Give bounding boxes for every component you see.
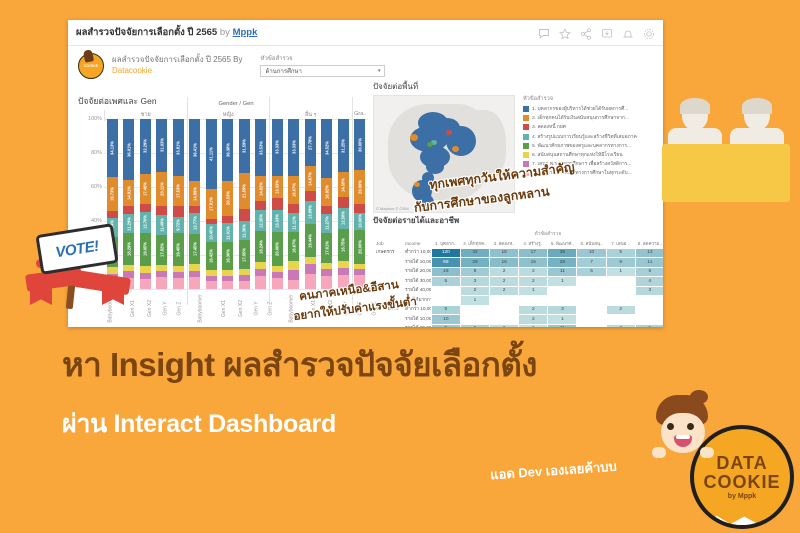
table-cell-value[interactable] (606, 277, 635, 287)
legend-title: หัวข้อสำรวจ (523, 95, 651, 103)
chart-bar-segment[interactable] (173, 206, 184, 216)
table-cell-value[interactable] (577, 286, 606, 296)
chart-bar-segment[interactable]: 18.24% (255, 231, 266, 262)
chart-bar-value-label: 16.42% (209, 249, 214, 263)
table-cell-value[interactable]: 2 (490, 324, 519, 327)
table-cell-value[interactable] (490, 315, 519, 325)
podium-figure-head (682, 100, 708, 130)
map-bubble (427, 142, 433, 147)
table-cell-value[interactable] (431, 296, 460, 306)
chart-bar-segment[interactable]: 31.59% (239, 119, 250, 173)
chevron-down-icon: ▾ (378, 68, 381, 74)
legend-swatch (523, 152, 529, 158)
chart-y-tick: 100% (88, 116, 102, 122)
chart-bar-column[interactable]: 33.81%17.53%9.72%19.45% (170, 119, 187, 289)
table-col-factor[interactable]: 1. บุคลาก.. (431, 239, 460, 249)
table-cell-value[interactable]: 16 (431, 267, 460, 277)
chart-bar-segment[interactable]: 20.11% (156, 172, 167, 206)
chart-bar-segment[interactable]: 13.33% (272, 176, 283, 199)
chart-bar-segment[interactable]: 10.45% (206, 224, 217, 242)
table-cell-value[interactable]: 3 (548, 305, 577, 315)
chart-bar-segment[interactable]: 16.30% (222, 242, 233, 270)
chart-bar-value-label: 30.00% (357, 138, 362, 152)
chart-bar-column[interactable]: 41.11%17.91%10.45%16.42% (203, 119, 220, 289)
chart-x-tick: Gen Z (180, 291, 194, 319)
chart-bar-value-label: 19.73% (110, 187, 115, 201)
share-icon[interactable] (580, 27, 592, 39)
star-icon[interactable] (559, 27, 571, 39)
dashboard-subtitle: ผลสำรวจปัจจัยการเลือกตั้ง ปี 2565 By Dat… (112, 55, 242, 77)
chart-bar-value-label: 16.67% (291, 240, 296, 254)
table-cell-value[interactable]: 9 (606, 258, 635, 268)
chart-bar-segment[interactable]: 33.33% (272, 119, 283, 176)
table-body: เกษตรกรต่ำกว่า 10,00..1203215173610513รา… (373, 248, 663, 327)
chart-bar-value-label: 36.41% (192, 143, 197, 157)
table-super-header-row: หัวข้อสำรวจ (373, 229, 663, 239)
chart-bar-segment[interactable]: 17.46% (140, 174, 151, 204)
chart-bar-segment[interactable] (222, 216, 233, 223)
chart-bar-segment[interactable] (321, 206, 332, 213)
table-cell-value[interactable]: 9 (431, 324, 460, 327)
chart-bar-value-label: 36.38% (225, 143, 230, 157)
table-cell-value[interactable]: 6 (635, 267, 663, 277)
chart-bar-segment[interactable]: 17.45% (189, 234, 200, 264)
chart-bar-value-label: 31.25% (341, 139, 346, 153)
table-header-row: Job Income 1. บุคลาก..2. เด็กทุกค..3. ลด… (373, 239, 663, 249)
chart-bar-column[interactable]: 31.59%21.59%11.36%17.05% (236, 119, 253, 289)
chart-bar-segment[interactable]: 36.38% (222, 119, 233, 181)
dashboard-title: ผลสำรวจปัจจัยการเลือกตั้ง ปี 2565 by Mpp… (76, 25, 257, 40)
map-bubble (452, 146, 459, 152)
table-row[interactable]: รายได้ 10,00..1021 (373, 315, 663, 325)
chart-bar-value-label: 13.33% (275, 214, 280, 228)
table-col-factor[interactable]: 4. สร้างรู.. (519, 239, 548, 249)
table-cell-value[interactable]: 2 (519, 315, 548, 325)
chart-bar-segment[interactable] (288, 270, 299, 279)
podium-document (670, 158, 686, 178)
poster-credit: แอด Dev เองเลยค้าบบ (489, 456, 617, 486)
chart-bar-segment[interactable]: 12.77% (189, 213, 200, 235)
table-cell-value[interactable]: 3 (460, 277, 489, 287)
chart-bar-segment[interactable]: 14.89% (189, 181, 200, 206)
chart-bar-segment[interactable] (255, 269, 266, 276)
chart-bar-segment[interactable]: 36.01% (123, 119, 134, 180)
legend-item[interactable]: 6. สนับสนุนสถานศึกษาทุกแห่งให้มีโรงเรียน (523, 151, 651, 159)
table-cell-value[interactable]: 15 (519, 258, 548, 268)
survey-topic-filter: หัวข้อสำรวจ ด้านการศึกษา ▾ (260, 51, 385, 77)
chart-bar-value-label: 20.00% (275, 242, 280, 256)
table-cell-value[interactable] (606, 315, 635, 325)
table-cell-value[interactable] (577, 315, 606, 325)
chart-bar-segment[interactable] (354, 269, 365, 276)
table-cell-value[interactable]: 36 (548, 248, 577, 258)
chart-bar-value-label: 32.29% (143, 139, 148, 153)
subscribe-icon[interactable] (622, 27, 634, 39)
chart-bar-value-label: 11.01% (225, 226, 230, 240)
chart-bar-value-label: 10.00% (357, 214, 362, 228)
chart-bar-segment[interactable] (321, 269, 332, 276)
chart-bar-value-label: 14.67% (308, 172, 313, 186)
chart-bar-value-label: 17.45% (192, 242, 197, 256)
chart-bar-segment[interactable]: 13.33% (272, 210, 283, 233)
dashboard-author-link[interactable]: Mppk (233, 27, 258, 38)
table-row[interactable]: รายได้ 20,00..95211125 (373, 324, 663, 327)
chart-bar-segment[interactable]: 12.50% (338, 208, 349, 229)
chart-bar-segment[interactable]: 32.29% (140, 119, 151, 174)
chart-bar-segment[interactable] (338, 261, 349, 268)
table-cell-value[interactable]: 28 (548, 258, 577, 268)
chart-y-tick: 60% (91, 184, 102, 190)
chart-bar-column[interactable]: 33.53%14.82%12.35%18.24% (253, 119, 270, 289)
chart-bar-column[interactable]: 36.38%20.53%11.01%16.30% (220, 119, 237, 289)
chart-bar-segment[interactable] (156, 277, 167, 289)
chart-bar-segment[interactable]: 31.03% (156, 119, 167, 172)
mascot-eye-left (667, 423, 674, 430)
chart-bar-column[interactable]: 36.41%14.89%12.77%17.45% (187, 119, 204, 289)
table-cell-value[interactable] (577, 277, 606, 287)
gear-icon[interactable] (643, 27, 655, 39)
table-cell-value[interactable]: 2 (490, 267, 519, 277)
chart-bar-segment[interactable]: 10.00% (354, 213, 365, 230)
chart-bar-segment[interactable] (272, 198, 283, 209)
chart-bar-segment[interactable]: 20.00% (354, 170, 365, 204)
table-cell-value[interactable] (548, 296, 577, 306)
chart-bar-segment[interactable] (140, 204, 151, 212)
survey-topic-value: ด้านการศึกษา (265, 66, 301, 76)
chart-bar-value-label: 33.81% (176, 141, 181, 155)
chart-bar-segment[interactable] (173, 278, 184, 289)
chart-bar-segment[interactable]: 11.01% (222, 223, 233, 242)
table-cell-value[interactable]: 5 (431, 277, 460, 287)
podium-figure-head (744, 100, 770, 130)
table-cell-value[interactable] (606, 286, 635, 296)
chart-bar-segment[interactable]: 16.92% (321, 178, 332, 207)
table-cell-value[interactable]: 1 (548, 315, 577, 325)
table-cell-value[interactable] (606, 296, 635, 306)
table-cell-value[interactable]: 2 (460, 286, 489, 296)
chart-bar-column[interactable]: 27.78%14.67%13.89%19.44% (302, 119, 319, 289)
table-cell-value[interactable]: 5 (431, 305, 460, 315)
table-col-job: Job (373, 239, 402, 249)
table-spacer (373, 229, 402, 239)
chart-bar-segment[interactable]: 27.78% (305, 119, 316, 166)
table-cell-value[interactable] (577, 305, 606, 315)
chart-bar-segment[interactable] (288, 261, 299, 270)
chart-bar-segment[interactable]: 14.91% (123, 180, 134, 205)
chart-bar-segment[interactable]: 16.67% (288, 176, 299, 204)
chart-bar-segment[interactable]: 30.00% (354, 119, 365, 170)
table-cell-value[interactable]: 1 (606, 267, 635, 277)
table-cell-value[interactable] (635, 305, 663, 315)
datacookie-logo-icon: COOKIE (78, 53, 104, 79)
chart-bar-segment[interactable] (239, 281, 250, 289)
map-attribution: © Mapbox © OSM (376, 206, 409, 211)
table-cell-value[interactable]: 11 (548, 324, 577, 327)
table-cell-value[interactable]: 10 (431, 315, 460, 325)
chart-bar-segment[interactable]: 17.91% (206, 189, 217, 219)
chart-bar-value-label: 12.35% (258, 214, 263, 228)
chart-bar-segment[interactable]: 41.11% (206, 119, 217, 189)
chart-bar-segment[interactable]: 11.36% (239, 221, 250, 240)
table-cell-value[interactable] (490, 305, 519, 315)
chart-bar-segment[interactable]: 14.82% (255, 176, 266, 201)
table-cell-value[interactable]: 2 (490, 286, 519, 296)
podium-document (732, 158, 748, 178)
table-cell-value[interactable]: 32 (460, 248, 489, 258)
chart-bar-segment[interactable] (288, 204, 299, 213)
chart-bar-segment[interactable]: 33.81% (173, 119, 184, 176)
table-row[interactable]: เกษตรกรต่ำกว่า 10,00..1203215173610513 (373, 248, 663, 258)
chart-bar-segment[interactable]: 14.58% (338, 172, 349, 197)
table-cell-value[interactable]: 17 (519, 248, 548, 258)
chart-bar-segment[interactable]: 14.67% (305, 166, 316, 191)
dashboard-title-by: by (220, 27, 230, 38)
table-cell-value[interactable] (519, 296, 548, 306)
table-cell-value[interactable]: 3 (635, 286, 663, 296)
chart-bar-value-label: 11.27% (324, 216, 329, 230)
table-cell-value[interactable]: 13 (635, 248, 663, 258)
legend-swatch (523, 124, 529, 130)
chart-bar-segment[interactable] (156, 206, 167, 215)
table-spacer (402, 229, 431, 239)
table-cell-value[interactable] (577, 296, 606, 306)
chart-bar-segment[interactable]: 17.53% (173, 176, 184, 206)
legend-swatch (523, 115, 529, 121)
chart-bar-value-label: 13.89% (308, 205, 313, 219)
download-icon[interactable] (601, 27, 613, 39)
chart-bar-segment[interactable]: 16.42% (206, 242, 217, 270)
chart-bar-segment[interactable] (255, 262, 266, 269)
table-cell-job (373, 258, 402, 268)
table-col-factor[interactable]: 8. ลดความ.. (635, 239, 663, 249)
chart-bar-value-label: 14.58% (341, 178, 346, 192)
table-cell-value[interactable] (577, 324, 606, 327)
chart-bar-segment[interactable]: 11.49% (156, 215, 167, 235)
chart-bar-segment[interactable] (189, 264, 200, 271)
table-cell-value[interactable] (635, 296, 663, 306)
table-row[interactable]: รายได้ 20,00..1682211516 (373, 267, 663, 277)
chart-bar-segment[interactable] (239, 209, 250, 221)
legend-label: 4. สร้างรูปแบบการเรียนรู้และสร้างชีวิตที… (532, 133, 637, 141)
chart-bar-value-label: 9.72% (176, 219, 181, 231)
chart-bar-value-label: 41.11% (209, 147, 214, 161)
chart-bar-segment[interactable] (321, 263, 332, 270)
chart-bar-value-label: 17.05% (242, 248, 247, 262)
table-cell-value[interactable]: 4 (635, 277, 663, 287)
chart-bar-segment[interactable]: 31.25% (338, 119, 349, 172)
chart-bar-segment[interactable]: 11.11% (288, 213, 299, 232)
chart-bar-segment[interactable]: 9.72% (173, 217, 184, 234)
chart-bar-column[interactable]: 31.25%14.58%12.50%18.75% (335, 119, 352, 289)
chart-bar-segment[interactable] (255, 276, 266, 289)
logo-badge-label: COOKIE (79, 54, 103, 78)
chart-bar-segment[interactable]: 19.73% (107, 177, 118, 211)
chart-bar-segment[interactable]: 17.82% (156, 235, 167, 265)
chart-bar-value-label: 17.61% (324, 241, 329, 255)
dashboard-tool-icons (538, 27, 655, 39)
table-cell-value[interactable]: 18 (490, 258, 519, 268)
table-cell-income: รายได้ 10,00.. (402, 315, 431, 325)
chart-bar-column[interactable]: 33.33%16.67%11.11%16.67% (286, 119, 303, 289)
chart-bar-value-label: 20.00% (357, 180, 362, 194)
chart-bar-segment[interactable]: 17.61% (321, 233, 332, 263)
chart-bar-value-label: 12.77% (192, 216, 197, 230)
chart-group-title: Gender / Gen (104, 101, 368, 107)
chart-bar-segment[interactable]: 18.75% (338, 229, 349, 261)
chart-bar-segment[interactable] (189, 277, 200, 289)
chart-bar-segment[interactable]: 33.33% (288, 119, 299, 176)
table-cell-value[interactable]: 1 (548, 277, 577, 287)
chart-bar-segment[interactable] (305, 257, 316, 264)
chart-bar-segment[interactable]: 16.67% (288, 232, 299, 260)
table-cell-value[interactable] (635, 315, 663, 325)
table-cell-value[interactable]: 120 (431, 248, 460, 258)
table-cell-value[interactable]: 5 (577, 267, 606, 277)
chart-bar-segment[interactable] (338, 268, 349, 275)
chart-bar-value-label: 19.45% (176, 243, 181, 257)
chart-bar-value-label: 18.24% (258, 240, 263, 254)
table-cell-value[interactable]: 5 (635, 324, 663, 327)
table-col-factor[interactable]: 5. พัฒนาศ.. (548, 239, 577, 249)
podium-flag (754, 154, 778, 170)
chart-bar-segment[interactable]: 33.53% (255, 119, 266, 176)
chart-bar-segment[interactable] (123, 206, 134, 215)
table-cell-value[interactable]: 2 (606, 305, 635, 315)
table-col-factor[interactable]: 6. สนับสนุ.. (577, 239, 606, 249)
dashboard-subheader: COOKIE ผลสำรวจปัจจัยการเลือกตั้ง ปี 2565… (68, 46, 663, 79)
map-bubble (410, 134, 418, 141)
chart-bar-segment[interactable]: 19.44% (305, 224, 316, 257)
table-cell-value[interactable] (548, 286, 577, 296)
income-job-heat-table: หัวข้อสำรวจ Job Income 1. บุคลาก..2. เด็… (373, 229, 663, 327)
chart-bar-segment[interactable] (107, 211, 118, 219)
legend-item[interactable]: 2. เด็กทุกคนได้รับเงินสนับสนุนการศึกษาจา… (523, 114, 651, 122)
chart-group-separator (269, 97, 270, 305)
dashboard-subtitle-block: ผลสำรวจปัจจัยการเลือกตั้ง ปี 2565 By Dat… (112, 51, 242, 77)
chart-bar-segment[interactable]: 20.00% (272, 232, 283, 266)
table-row[interactable]: รายได้ 40,00..2213 (373, 286, 663, 296)
table-cell-value[interactable]: 8 (460, 267, 489, 277)
chart-bar-segment[interactable]: 34.52% (321, 119, 332, 178)
chart-bar-segment[interactable] (272, 278, 283, 289)
chart-bar-value-label: 31.03% (159, 138, 164, 152)
table-cell-value[interactable]: 5 (460, 324, 489, 327)
chart-bar-value-label: 17.46% (143, 182, 148, 196)
chart-bar-segment[interactable] (222, 281, 233, 289)
dashboard-subtitle-brand: Datacookie (112, 66, 152, 75)
filter-label: หัวข้อสำรวจ (260, 53, 385, 63)
table-cell-value[interactable]: 11 (635, 258, 663, 268)
chart-bar-column[interactable]: 33.33%13.33%13.33%20.00% (269, 119, 286, 289)
chart-bar-segment[interactable]: 20.00% (354, 230, 365, 264)
chart-bar-segment[interactable]: 34.13% (107, 119, 118, 177)
chart-bar-value-label: 10.45% (209, 226, 214, 240)
chart-bar-segment[interactable]: 20.53% (222, 181, 233, 216)
legend-item[interactable]: 3. ลดลงหนี้ื กยศ (523, 123, 651, 131)
table-col-factor[interactable]: 2. เด็กทุกค.. (460, 239, 489, 249)
legend-item[interactable]: 5. พัฒนาศักยภาพของครูและบุคลากรทางการ... (523, 142, 651, 150)
legend-item[interactable]: 4. สร้างรูปแบบการเรียนรู้และสร้างชีวิตที… (523, 133, 651, 141)
table-cell-value[interactable]: 1 (519, 286, 548, 296)
chart-bar-column[interactable]: 31.03%20.11%11.49%17.82% (154, 119, 171, 289)
table-cell-value[interactable]: 11 (548, 267, 577, 277)
vote-sign-label: VOTE! (54, 237, 99, 261)
table-cell-value[interactable]: 10 (577, 248, 606, 258)
table-cell-value[interactable] (460, 315, 489, 325)
table-cell-value[interactable] (431, 286, 460, 296)
chart-bar-segment[interactable]: 12.35% (255, 210, 266, 231)
table-cell-value[interactable]: 2 (519, 267, 548, 277)
table-cell-value[interactable]: 2 (519, 277, 548, 287)
table-cell-income: ต่ำกว่า 10,00.. (402, 248, 431, 258)
vote-sign-plate: VOTE! (35, 223, 118, 275)
table-cell-value[interactable]: 29 (460, 258, 489, 268)
chart-bar-segment[interactable]: 13.89% (305, 201, 316, 225)
table-cell-value[interactable]: 2 (490, 277, 519, 287)
table-super-header: หัวข้อสำรวจ (431, 229, 663, 239)
chart-bar-value-label: 16.92% (324, 185, 329, 199)
table-cell-value[interactable]: 2 (519, 305, 548, 315)
table-cell-value[interactable] (460, 305, 489, 315)
table-cell-value[interactable]: 7 (577, 258, 606, 268)
chart-bar-segment[interactable] (206, 281, 217, 288)
table-row[interactable]: รายได้ 30,00..532214 (373, 277, 663, 287)
chart-bar-segment[interactable] (305, 191, 316, 200)
table-col-factor[interactable]: 3. ลดลงห.. (490, 239, 519, 249)
chart-bar-segment[interactable]: 19.45% (173, 233, 184, 266)
comment-icon[interactable] (538, 27, 550, 39)
table-cell-income: รายได้ 20,00.. (402, 324, 431, 327)
table-cell-value[interactable]: 1 (519, 324, 548, 327)
dashboard-subtitle-text: ผลสำรวจปัจจัยการเลือกตั้ง ปี 2565 By (112, 55, 242, 64)
chart-bar-segment[interactable] (338, 197, 349, 208)
table-cell-value[interactable] (490, 296, 519, 306)
mascot-eye-right (687, 423, 694, 430)
poster-subheadline: ผ่าน Interact Dashboard (62, 404, 336, 444)
legend-swatch (523, 106, 529, 112)
chart-bar-value-label: 12.50% (341, 211, 346, 225)
table-cell-income: รายได้ 10,00.. (402, 258, 431, 268)
table-cell-value[interactable]: 2 (606, 324, 635, 327)
map-bubble (446, 130, 452, 135)
table-col-factor[interactable]: 7. เสนอ .. (606, 239, 635, 249)
mascot-hand-left (652, 447, 666, 458)
podium-flag-pole (753, 154, 755, 186)
table-cell-value[interactable]: 15 (490, 248, 519, 258)
survey-topic-select[interactable]: ด้านการศึกษา ▾ (260, 65, 385, 77)
chart-bar-segment[interactable]: 36.41% (189, 119, 200, 181)
table-cell-value[interactable]: 69 (431, 258, 460, 268)
table-row[interactable]: รายได้ 10,00..69291815287911 (373, 258, 663, 268)
chart-bar-column[interactable]: 30.00%20.00%10.00%20.00% (352, 119, 369, 289)
table-cell-value[interactable]: 1 (460, 296, 489, 306)
chart-bar-value-label: 11.11% (291, 216, 296, 229)
chart-bar-segment[interactable]: 11.27% (321, 214, 332, 233)
podium-flag (692, 154, 716, 170)
chart-bar-segment[interactable]: 17.05% (239, 240, 250, 269)
table-cell-value[interactable]: 5 (606, 248, 635, 258)
chart-bar-value-label: 31.59% (242, 139, 247, 153)
legend-item[interactable]: 1. บุคลากรของผู้บริหารได้ช่วยได้รับผลการ… (523, 105, 651, 113)
chart-bar-segment[interactable]: 21.59% (239, 173, 250, 210)
chart-bar-segment[interactable] (305, 264, 316, 273)
mascot-mouth (674, 435, 692, 447)
chart-bar-column[interactable]: 34.52%16.92%11.27%17.61% (319, 119, 336, 289)
chart-bar-segment[interactable] (255, 201, 266, 210)
chart-bar-segment[interactable] (354, 204, 365, 213)
map-heading: ปัจจัยต่อพื้นที่ (373, 80, 653, 93)
chart-bar-value-label: 11.49% (159, 218, 164, 232)
